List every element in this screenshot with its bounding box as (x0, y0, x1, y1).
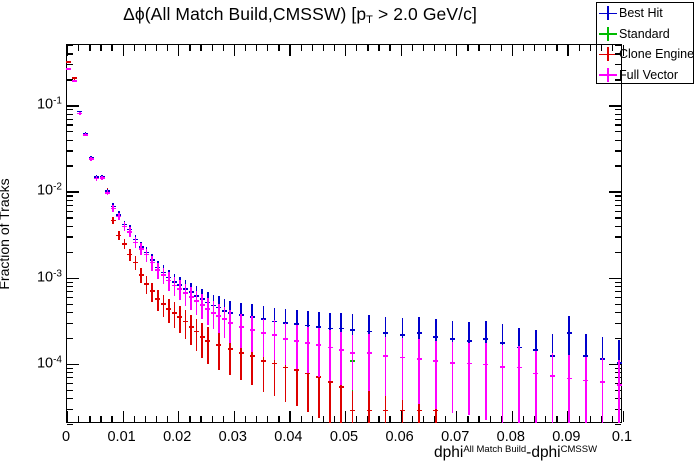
y-axis-tick-label-mantissa: 10 (37, 183, 53, 199)
legend-item-standard[interactable]: Standard (597, 24, 693, 45)
x-axis-title-base1: dphi (434, 444, 463, 461)
legend-item-label: Full Vector (619, 68, 678, 82)
x-axis-tick-label: 0.07 (441, 429, 469, 445)
x-axis-tick-label: 0.09 (552, 429, 580, 445)
x-axis-title-base2: -dphi (526, 444, 560, 461)
x-axis-tick-label: 0.02 (163, 429, 191, 445)
plot-data-area (66, 44, 622, 423)
chart-canvas: { "title": { "main_pre": "\u0394\u03d5(A… (0, 0, 696, 472)
y-axis-tick-label-mantissa: 10 (37, 97, 53, 113)
legend-item-best-hit[interactable]: Best Hit (597, 3, 693, 24)
x-axis-major-tick (623, 411, 624, 422)
x-axis-title: dphiAll Match Build-dphiCMSSW (434, 444, 597, 462)
legend-item-label: Clone Engine (619, 47, 694, 61)
y-axis-tick-label-exponent: -1 (53, 96, 62, 107)
y-axis-tick-label: 10-2 (0, 182, 62, 199)
chart-title-post: > 2.0 GeV/c] (373, 4, 477, 24)
x-axis-title-sup1: All Match Build (463, 444, 526, 455)
legend-item-label: Standard (619, 27, 670, 41)
x-axis-title-sup2: CMSSW (561, 444, 597, 455)
x-axis-tick-label: 0.06 (385, 429, 413, 445)
chart-title-pre: Δϕ(All Match Build,CMSSW) [p (123, 4, 366, 24)
x-axis-tick-label: 0.1 (612, 429, 632, 445)
y-axis-tick-label-mantissa: 10 (37, 269, 53, 285)
legend-item-label: Best Hit (619, 6, 663, 20)
x-axis-tick-label: 0.03 (219, 429, 247, 445)
x-axis-tick-label: 0.08 (497, 429, 525, 445)
y-axis-tick-label: 10-3 (0, 268, 62, 285)
x-axis-tick-label: 0.05 (330, 429, 358, 445)
y-axis-tick-label-exponent: -2 (53, 182, 62, 193)
y-axis-minor-tick (67, 424, 73, 425)
y-axis-tick-label-exponent: -3 (53, 268, 62, 279)
x-axis-major-tick (623, 45, 624, 56)
y-axis-tick-label: 10-1 (0, 96, 62, 113)
x-axis-tick-label: 0.04 (274, 429, 302, 445)
x-axis-tick-label: 0.01 (107, 429, 135, 445)
x-axis-tick-label: 0 (62, 429, 70, 445)
y-axis-tick-label: 10-4 (0, 354, 62, 371)
y-axis-minor-tick (615, 424, 621, 425)
legend-marker-icon (597, 26, 619, 42)
y-axis-tick-label-mantissa: 10 (37, 355, 53, 371)
y-axis-tick-label-exponent: -4 (53, 354, 62, 365)
chart-title-sub: T (366, 14, 373, 26)
legend-marker-icon (597, 5, 619, 21)
chart-title: Δϕ(All Match Build,CMSSW) [pT > 2.0 GeV/… (0, 4, 600, 26)
